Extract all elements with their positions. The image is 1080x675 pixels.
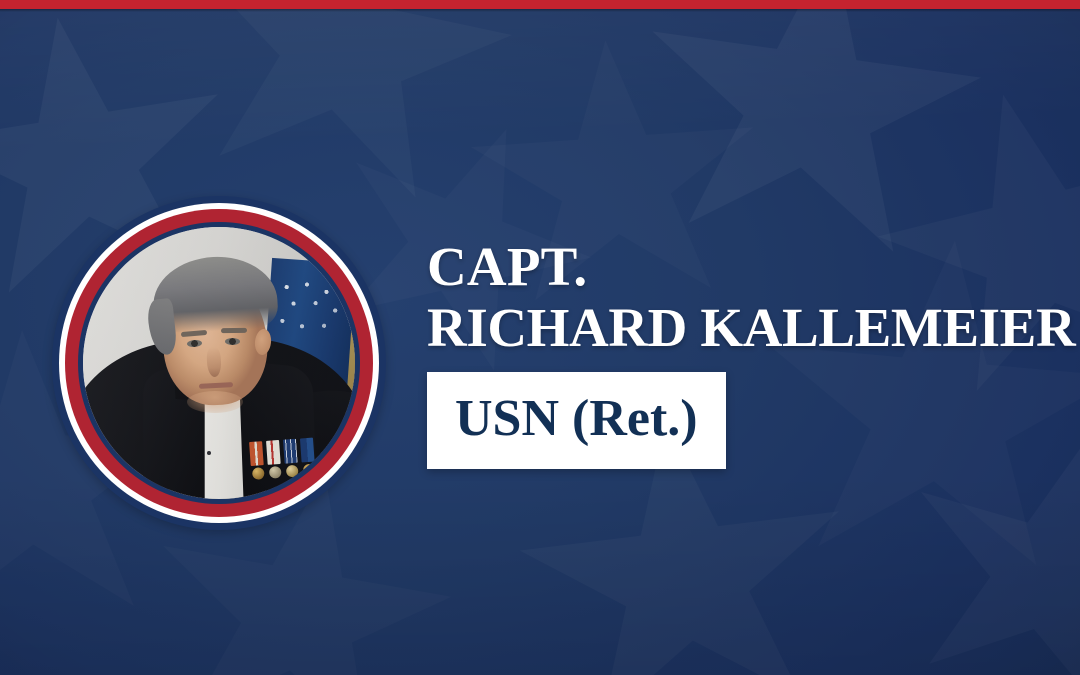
top-accent-bar-shadow: [0, 9, 1080, 12]
medal: [300, 438, 316, 477]
eyebrow-right: [221, 328, 247, 333]
medal-ribbon: [266, 440, 281, 465]
medal-disc: [302, 464, 315, 477]
top-accent-bar: [0, 0, 1080, 9]
speaker-rank-line: CAPT.: [427, 236, 1047, 297]
medal-ribbon: [300, 438, 315, 463]
speaker-text-block: CAPT. RICHARD KALLEMEIER USN (Ret.): [427, 236, 1047, 469]
eye-right: [225, 338, 240, 345]
medal-ribbon: [283, 439, 298, 464]
portrait-photo: [83, 227, 355, 499]
speaker-name: CAPT. RICHARD KALLEMEIER: [427, 236, 1047, 358]
chin: [187, 391, 243, 413]
speaker-banner: CAPT. RICHARD KALLEMEIER USN (Ret.): [0, 0, 1080, 675]
portrait-medallion: [52, 196, 386, 530]
medal: [266, 440, 282, 479]
medal-ribbon: [249, 441, 264, 466]
medal-disc: [285, 465, 298, 478]
medal-disc: [251, 467, 264, 480]
speaker-fullname-line: RICHARD KALLEMEIER: [427, 297, 1047, 358]
service-badge: USN (Ret.): [427, 372, 726, 469]
medal-disc: [268, 466, 281, 479]
medal: [283, 439, 299, 478]
medal-rack: [249, 436, 339, 499]
medal: [249, 441, 265, 480]
shirt-stud: [207, 451, 211, 455]
